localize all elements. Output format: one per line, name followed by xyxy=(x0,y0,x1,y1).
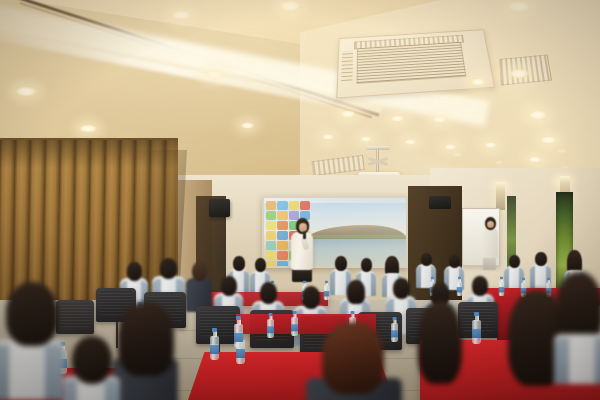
bottle-label xyxy=(236,349,245,358)
downlight-ring xyxy=(556,148,568,154)
bottle-label xyxy=(499,287,504,292)
audience-head xyxy=(449,255,460,268)
audience-head xyxy=(260,282,277,304)
bottle-cap xyxy=(269,313,273,316)
downlight xyxy=(470,78,486,86)
ac-filter-grille xyxy=(357,42,467,84)
downlight xyxy=(390,115,405,122)
water-bottle xyxy=(324,286,329,300)
water-bottle xyxy=(210,336,219,360)
bottle-cap xyxy=(212,328,217,332)
screen-glare xyxy=(264,198,406,266)
audience-head xyxy=(221,276,237,296)
audience-head xyxy=(421,253,432,266)
foreground-head xyxy=(72,336,112,384)
bottle-cap xyxy=(325,281,328,283)
water-bottle xyxy=(457,282,462,296)
foreground-hair xyxy=(418,300,462,384)
downlight xyxy=(170,10,192,20)
downlight xyxy=(508,68,530,79)
bottle-label xyxy=(391,330,398,337)
audience-head xyxy=(472,276,488,296)
downlight xyxy=(360,136,372,142)
conference-room-photo: Conference room seminar Audience of stud… xyxy=(0,0,600,400)
standing-attendee-legs xyxy=(483,256,496,270)
audience-head xyxy=(509,255,520,268)
wall-speaker xyxy=(209,199,230,217)
water-bottle xyxy=(499,282,504,296)
foreground-head xyxy=(6,282,58,346)
chair-mesh xyxy=(59,303,91,327)
bottle-label xyxy=(472,329,481,338)
bottle-cap xyxy=(431,277,434,279)
foreground-hair xyxy=(322,322,384,394)
audience-hair xyxy=(347,280,365,304)
audience-head xyxy=(192,262,207,281)
bottle-label xyxy=(324,291,329,296)
downlight xyxy=(540,136,557,144)
bottle-cap xyxy=(236,316,241,320)
audience-head xyxy=(127,262,142,281)
bottle-cap xyxy=(500,277,503,279)
bottle-label xyxy=(267,326,274,333)
water-bottle xyxy=(234,324,243,348)
chair-mesh xyxy=(200,310,237,337)
audience-head xyxy=(361,258,372,272)
downlight xyxy=(528,110,548,120)
audience-head xyxy=(255,258,266,272)
ac-side-slats xyxy=(341,50,352,81)
bottle-label xyxy=(210,345,219,354)
downlight xyxy=(444,144,457,150)
audience-head xyxy=(535,252,547,266)
downlight xyxy=(240,122,255,129)
black-mesh-chair xyxy=(56,300,94,334)
audience-head xyxy=(302,286,320,309)
downlight-ring xyxy=(452,152,463,157)
ceiling-cassette-air-conditioner xyxy=(336,29,495,98)
water-bottle xyxy=(472,320,481,344)
downlight xyxy=(404,139,417,145)
audience-head xyxy=(160,258,177,279)
audience-head xyxy=(393,278,410,299)
water-bottle xyxy=(267,319,274,338)
bottle-label xyxy=(457,287,462,292)
audience-head xyxy=(233,256,245,271)
bottle-cap xyxy=(474,312,479,316)
projection-screen xyxy=(264,198,406,266)
downlight xyxy=(278,0,302,12)
water-bottle xyxy=(291,317,298,336)
water-bottle xyxy=(391,323,398,342)
bottle-cap xyxy=(522,278,525,280)
foreground-torso xyxy=(0,340,64,400)
downlight xyxy=(322,134,334,140)
microphone xyxy=(303,231,306,239)
downlight-ring xyxy=(494,160,504,165)
bottle-cap xyxy=(547,278,550,280)
bottle-cap xyxy=(351,311,355,314)
bottle-cap xyxy=(303,281,306,283)
bottle-cap xyxy=(393,317,397,320)
audience-head xyxy=(335,256,347,271)
bottle-label xyxy=(234,333,243,342)
downlight xyxy=(78,124,98,133)
downlight xyxy=(204,70,224,80)
wall-speaker-right xyxy=(429,196,451,209)
wall-sconce xyxy=(496,182,505,210)
downlight xyxy=(340,110,356,118)
bottle-cap xyxy=(293,311,297,314)
bottle-label xyxy=(291,324,298,331)
downlight xyxy=(14,86,38,97)
downlight xyxy=(484,142,497,148)
bottle-cap xyxy=(458,277,461,279)
downlight xyxy=(432,116,447,123)
downlight xyxy=(506,0,532,13)
downlight xyxy=(528,156,542,163)
foreground-hair xyxy=(118,302,174,376)
foreground-torso xyxy=(554,334,600,384)
standing-attendee-face xyxy=(487,221,494,228)
standing-attendee-torso xyxy=(481,228,498,258)
